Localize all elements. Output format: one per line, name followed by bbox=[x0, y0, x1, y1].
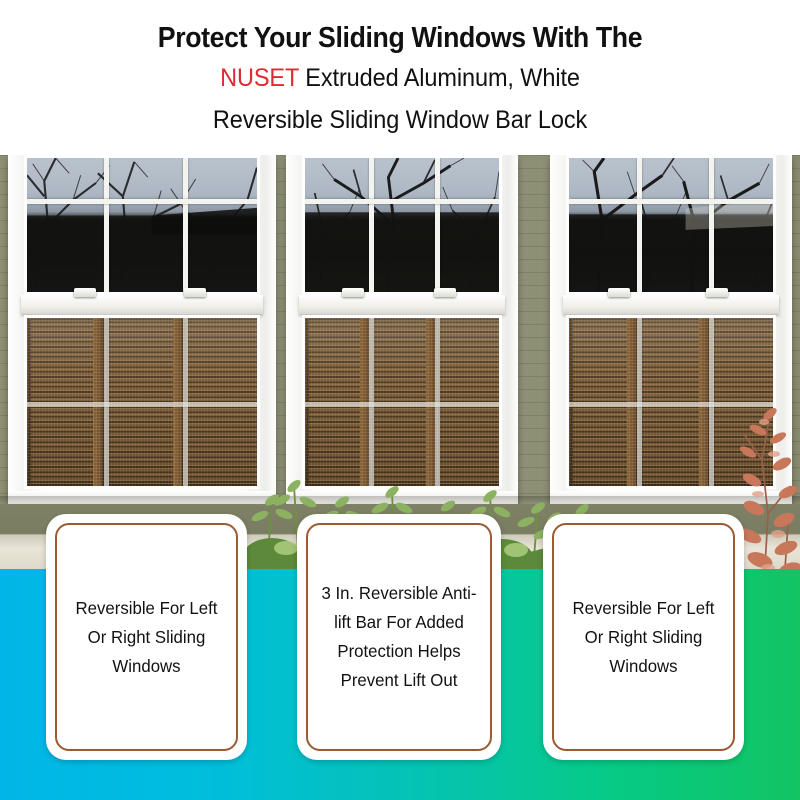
sash-lock-right-icon bbox=[184, 288, 206, 297]
feature-card-middle-inner: 3 In. Reversible Anti-lift Bar For Added… bbox=[306, 523, 492, 751]
feature-card-left-text: Reversible For Left Or Right Sliding Win… bbox=[61, 594, 233, 681]
headline-line-2-rest: Extruded Aluminum, White bbox=[299, 64, 580, 92]
meeting-rail bbox=[21, 295, 263, 314]
feature-card-right-inner: Reversible For Left Or Right Sliding Win… bbox=[552, 523, 735, 751]
feature-card-middle-text: 3 In. Reversible Anti-lift Bar For Added… bbox=[312, 579, 487, 695]
headline-line-2: NUSET Extruded Aluminum, White bbox=[24, 64, 776, 93]
upper-sash bbox=[24, 155, 260, 295]
muntin-horizontal bbox=[27, 199, 257, 204]
feature-card-right-text: Reversible For Left Or Right Sliding Win… bbox=[558, 594, 730, 681]
feature-card-middle[interactable]: 3 In. Reversible Anti-lift Bar For Added… bbox=[297, 514, 501, 760]
window-unit-2 bbox=[286, 155, 518, 507]
muntin-horizontal bbox=[305, 402, 499, 407]
sash-lock-left-icon bbox=[342, 288, 364, 297]
sash-lock-right-icon bbox=[434, 288, 456, 297]
lower-sash bbox=[24, 315, 260, 489]
upper-sash bbox=[302, 155, 502, 295]
muntin-vertical bbox=[709, 158, 714, 292]
sash-lock-left-icon bbox=[74, 288, 96, 297]
tree-reflection-icon bbox=[27, 158, 257, 292]
muntin-vertical bbox=[637, 158, 642, 292]
headline-line-1: Protect Your Sliding Windows With The bbox=[32, 22, 768, 55]
tree-reflection-icon bbox=[305, 158, 499, 294]
meeting-rail bbox=[299, 295, 505, 314]
muntin-horizontal bbox=[27, 402, 257, 407]
infographic-canvas: Protect Your Sliding Windows With The NU… bbox=[0, 0, 800, 800]
feature-card-left[interactable]: Reversible For Left Or Right Sliding Win… bbox=[46, 514, 247, 760]
tree-reflection-icon bbox=[569, 158, 773, 294]
sash-lock-left-icon bbox=[608, 288, 630, 297]
muntin-vertical bbox=[435, 158, 440, 292]
feature-card-left-inner: Reversible For Left Or Right Sliding Win… bbox=[55, 523, 238, 751]
muntin-vertical bbox=[369, 158, 374, 292]
muntin-horizontal bbox=[569, 199, 773, 204]
feature-card-right[interactable]: Reversible For Left Or Right Sliding Win… bbox=[543, 514, 744, 760]
upper-sash bbox=[566, 155, 776, 295]
window-unit-1 bbox=[8, 155, 276, 507]
muntin-vertical bbox=[104, 158, 109, 292]
headline-line-3: Reversible Sliding Window Bar Lock bbox=[24, 106, 776, 135]
brand-name: NUSET bbox=[220, 64, 299, 92]
header-block: Protect Your Sliding Windows With The NU… bbox=[0, 0, 800, 155]
meeting-rail bbox=[563, 295, 779, 314]
muntin-vertical bbox=[183, 158, 188, 292]
sash-lock-right-icon bbox=[706, 288, 728, 297]
muntin-horizontal bbox=[305, 199, 499, 204]
